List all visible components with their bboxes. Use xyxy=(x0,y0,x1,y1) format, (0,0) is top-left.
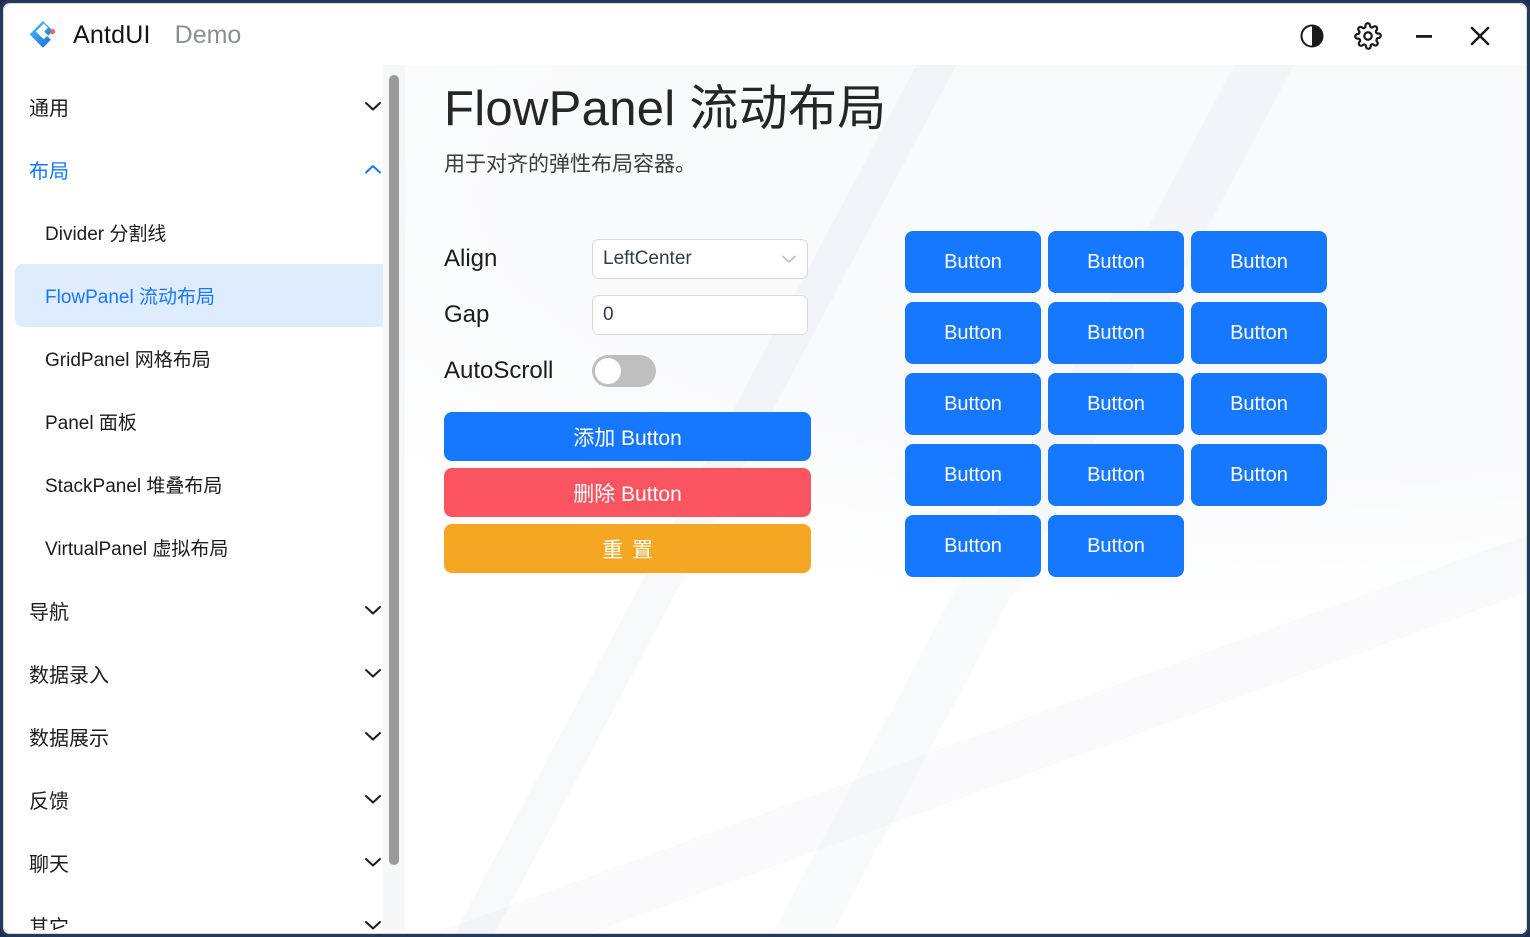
flow-panel-wrapper: Button Button Button Button Button Butto… xyxy=(827,223,1513,586)
chevron-up-icon xyxy=(363,158,383,181)
demo-body: Align LeftCenter Gap 0 AutoScroll xyxy=(444,223,1513,930)
minimize-button[interactable] xyxy=(1396,13,1452,59)
sidebar-item-label: FlowPanel 流动布局 xyxy=(45,282,215,309)
flow-button[interactable]: Button xyxy=(1191,373,1327,435)
page-title: FlowPanel 流动布局 xyxy=(444,81,1523,138)
sidebar-group-general[interactable]: 通用 xyxy=(7,75,405,138)
sidebar-group-label: 数据录入 xyxy=(29,659,363,688)
gap-label: Gap xyxy=(444,301,592,329)
sidebar-item-gridpanel[interactable]: GridPanel 网格布局 xyxy=(15,327,397,390)
flow-button[interactable]: Button xyxy=(1048,302,1184,364)
controls-column: Align LeftCenter Gap 0 AutoScroll xyxy=(444,223,827,580)
close-button[interactable] xyxy=(1452,13,1508,59)
sidebar-group-label: 数据展示 xyxy=(29,722,363,751)
gap-row: Gap 0 xyxy=(444,287,827,343)
sidebar-item-flowpanel[interactable]: FlowPanel 流动布局 xyxy=(15,264,397,327)
flow-button[interactable]: Button xyxy=(1191,231,1327,293)
gear-icon xyxy=(1354,22,1382,50)
sidebar-group-feedback[interactable]: 反馈 xyxy=(7,768,405,831)
flow-button[interactable]: Button xyxy=(1048,373,1184,435)
flow-panel: Button Button Button Button Button Butto… xyxy=(905,231,1475,586)
sidebar-group-navigation[interactable]: 导航 xyxy=(7,579,405,642)
chevron-down-icon xyxy=(363,851,383,874)
align-label: Align xyxy=(444,245,592,273)
antdui-logo-icon xyxy=(28,20,59,51)
flow-button[interactable]: Button xyxy=(1191,302,1327,364)
sidebar-group-other[interactable]: 其它 xyxy=(7,894,405,930)
page-header: FlowPanel 流动布局 用于对齐的弹性布局容器。 xyxy=(428,65,1523,178)
settings-button[interactable] xyxy=(1340,13,1396,59)
sidebar-menu: 通用 布局 Divider 分割线 FlowPanel 流动布局 GridPan… xyxy=(7,65,405,930)
page-description: 用于对齐的弹性布局容器。 xyxy=(444,148,1523,178)
align-row: Align LeftCenter xyxy=(444,231,827,287)
sidebar-item-divider[interactable]: Divider 分割线 xyxy=(15,201,397,264)
sidebar-item-virtualpanel[interactable]: VirtualPanel 虚拟布局 xyxy=(15,516,397,579)
chevron-down-icon xyxy=(363,599,383,622)
sidebar-group-label: 布局 xyxy=(29,155,363,184)
contrast-circle-icon xyxy=(1299,23,1325,49)
theme-toggle-button[interactable] xyxy=(1284,13,1340,59)
sidebar-group-data-entry[interactable]: 数据录入 xyxy=(7,642,405,705)
app-window: AntdUI Demo xyxy=(0,0,1530,937)
app-subtitle: Demo xyxy=(175,21,242,50)
close-icon xyxy=(1465,21,1495,51)
sidebar-group-label: 导航 xyxy=(29,596,363,625)
sidebar-item-stackpanel[interactable]: StackPanel 堆叠布局 xyxy=(15,453,397,516)
autoscroll-label: AutoScroll xyxy=(444,357,592,385)
sidebar-group-layout[interactable]: 布局 xyxy=(7,138,405,201)
sidebar-item-label: Divider 分割线 xyxy=(45,219,166,246)
sidebar-group-label: 反馈 xyxy=(29,785,363,814)
chevron-down-icon xyxy=(363,788,383,811)
chevron-down-icon xyxy=(363,95,383,118)
reset-button[interactable]: 重置 xyxy=(444,524,811,573)
sidebar-item-label: StackPanel 堆叠布局 xyxy=(45,471,222,498)
app-brand: AntdUI Demo xyxy=(6,20,241,51)
chevron-down-icon xyxy=(363,662,383,685)
sidebar-item-panel[interactable]: Panel 面板 xyxy=(15,390,397,453)
delete-button[interactable]: 删除 Button xyxy=(444,468,811,517)
flow-button[interactable]: Button xyxy=(905,231,1041,293)
autoscroll-row: AutoScroll xyxy=(444,343,827,399)
flow-button[interactable]: Button xyxy=(905,444,1041,506)
sidebar-scrollbar-track[interactable] xyxy=(383,65,405,930)
flow-button[interactable]: Button xyxy=(1191,444,1327,506)
flow-button[interactable]: Button xyxy=(905,302,1041,364)
app-title: AntdUI xyxy=(73,21,151,50)
sidebar-group-data-display[interactable]: 数据展示 xyxy=(7,705,405,768)
flow-button[interactable]: Button xyxy=(1048,515,1184,577)
toggle-knob xyxy=(595,358,621,384)
sidebar-item-label: VirtualPanel 虚拟布局 xyxy=(45,534,228,561)
chevron-down-icon xyxy=(363,914,383,930)
title-bar[interactable]: AntdUI Demo xyxy=(6,6,1524,65)
align-select-value: LeftCenter xyxy=(603,248,781,270)
sidebar: 通用 布局 Divider 分割线 FlowPanel 流动布局 GridPan… xyxy=(7,65,405,930)
chevron-down-icon xyxy=(781,248,797,270)
autoscroll-toggle[interactable] xyxy=(592,355,656,387)
flow-button[interactable]: Button xyxy=(1048,231,1184,293)
gap-input-value: 0 xyxy=(603,304,797,326)
align-select[interactable]: LeftCenter xyxy=(592,239,808,279)
sidebar-scrollbar-thumb[interactable] xyxy=(389,75,399,865)
sidebar-item-label: Panel 面板 xyxy=(45,408,137,435)
flow-button[interactable]: Button xyxy=(905,373,1041,435)
minimize-icon xyxy=(1410,22,1438,50)
sidebar-group-label: 其它 xyxy=(29,911,363,930)
chevron-down-icon xyxy=(363,725,383,748)
gap-input[interactable]: 0 xyxy=(592,295,808,335)
content-area: FlowPanel 流动布局 用于对齐的弹性布局容器。 Align LeftCe… xyxy=(428,65,1523,930)
sidebar-item-label: GridPanel 网格布局 xyxy=(45,345,211,372)
sidebar-group-label: 通用 xyxy=(29,92,363,121)
sidebar-group-chat[interactable]: 聊天 xyxy=(7,831,405,894)
window-controls xyxy=(1284,13,1524,59)
sidebar-group-label: 聊天 xyxy=(29,848,363,877)
flow-button[interactable]: Button xyxy=(905,515,1041,577)
add-button[interactable]: 添加 Button xyxy=(444,412,811,461)
flow-button[interactable]: Button xyxy=(1048,444,1184,506)
